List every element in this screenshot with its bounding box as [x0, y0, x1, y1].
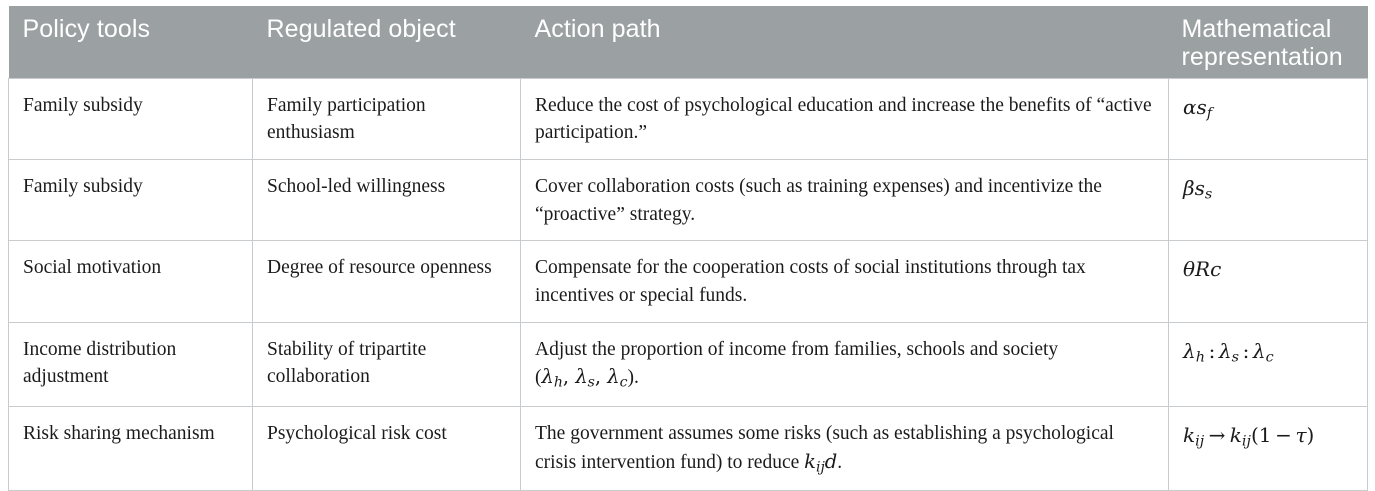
action-path-text-suffix: . — [837, 452, 842, 473]
math-symbol-lambda-s: λ — [1219, 339, 1232, 363]
inline-math-lambda-list: λh, λs, λc — [542, 365, 628, 388]
action-path-text-suffix: ). — [628, 367, 639, 388]
math-subscript-s: s — [1232, 349, 1239, 365]
math-subscript-s: s — [588, 375, 595, 391]
math-subscript-h: h — [1196, 349, 1205, 365]
math-symbol: αs — [1183, 95, 1207, 119]
table-row: Family subsidy Family participation enth… — [9, 78, 1368, 159]
cell-policy-tools: Social motivation — [9, 241, 253, 322]
cell-action-path: The government assumes some risks (such … — [521, 406, 1169, 490]
cell-policy-tools: Income distribution adjustment — [9, 322, 253, 406]
cell-policy-tools: Risk sharing mechanism — [9, 406, 253, 490]
math-symbol-tau: τ — [1295, 423, 1306, 447]
cell-regulated-object: Degree of resource openness — [253, 241, 521, 322]
math-expression-alpha-s-f: αsf — [1183, 95, 1212, 119]
math-symbol-k-right: k — [1230, 423, 1242, 447]
math-colon-2: : — [1239, 339, 1253, 363]
math-symbol-k-left: k — [1183, 423, 1195, 447]
math-comma-2: , — [595, 365, 601, 388]
cell-action-path: Reduce the cost of psychological educati… — [521, 78, 1169, 159]
math-minus: − — [1272, 423, 1296, 447]
math-expression-theta-r-c: θRc — [1183, 257, 1221, 281]
math-symbol: θRc — [1183, 257, 1221, 281]
math-paren-close: ) — [1307, 423, 1315, 447]
cell-regulated-object: Family participation enthusiasm — [253, 78, 521, 159]
math-subscript: s — [1205, 187, 1212, 203]
inline-math-k-ij-d: kijd — [804, 450, 837, 473]
cell-math-representation: λh:λs:λc — [1169, 322, 1368, 406]
math-symbol-k: k — [804, 450, 816, 473]
cell-regulated-object: Stability of tripartite collaboration — [253, 322, 521, 406]
cell-math-representation: θRc — [1169, 241, 1368, 322]
math-symbol-lambda-s: λ — [575, 365, 587, 388]
math-symbol: βs — [1183, 176, 1205, 200]
math-subscript-ij: ij — [816, 459, 825, 475]
cell-math-representation: kij→kij(1−τ) — [1169, 406, 1368, 490]
table-body: Family subsidy Family participation enth… — [9, 78, 1368, 491]
math-symbol-d: d — [825, 450, 837, 473]
math-expression-beta-s-s: βss — [1183, 176, 1212, 200]
cell-policy-tools: Family subsidy — [9, 159, 253, 240]
table-row: Income distribution adjustment Stability… — [9, 322, 1368, 406]
math-subscript-h: h — [554, 375, 563, 391]
math-arrow-right: → — [1204, 423, 1230, 447]
cell-action-path: Cover collaboration costs (such as train… — [521, 159, 1169, 240]
column-header-mathematical-representation: Mathematical representation — [1169, 6, 1368, 78]
policy-tools-table: Policy tools Regulated object Action pat… — [8, 6, 1368, 491]
policy-table-container: Policy tools Regulated object Action pat… — [0, 0, 1375, 419]
column-header-action-path: Action path — [521, 6, 1169, 78]
cell-action-path: Compensate for the cooperation costs of … — [521, 241, 1169, 322]
table-row: Family subsidy School-led willingness Co… — [9, 159, 1368, 240]
column-header-regulated-object: Regulated object — [253, 6, 521, 78]
math-subscript-ij-left: ij — [1195, 434, 1204, 450]
table-header: Policy tools Regulated object Action pat… — [9, 6, 1368, 78]
cell-regulated-object: Psychological risk cost — [253, 406, 521, 490]
math-colon-1: : — [1205, 339, 1219, 363]
math-subscript: f — [1207, 105, 1212, 121]
math-subscript-ij-right: ij — [1242, 434, 1251, 450]
column-header-policy-tools: Policy tools — [9, 6, 253, 78]
math-expression-k-ij-tau: kij→kij(1−τ) — [1183, 423, 1314, 447]
math-comma-1: , — [563, 365, 569, 388]
header-row: Policy tools Regulated object Action pat… — [9, 6, 1368, 78]
cell-math-representation: βss — [1169, 159, 1368, 240]
table-row: Risk sharing mechanism Psychological ris… — [9, 406, 1368, 490]
math-symbol-lambda-c: λ — [607, 365, 619, 388]
cell-math-representation: αsf — [1169, 78, 1368, 159]
cell-action-path: Adjust the proportion of income from fam… — [521, 322, 1169, 406]
math-symbol-lambda-h: λ — [542, 365, 554, 388]
math-subscript-c: c — [620, 375, 628, 391]
math-symbol-lambda-h: λ — [1183, 339, 1196, 363]
cell-regulated-object: School-led willingness — [253, 159, 521, 240]
math-expression-lambda-ratio: λh:λs:λc — [1183, 339, 1274, 363]
table-row: Social motivation Degree of resource ope… — [9, 241, 1368, 322]
math-symbol-lambda-c: λ — [1253, 339, 1266, 363]
cell-policy-tools: Family subsidy — [9, 78, 253, 159]
math-number-one: 1 — [1259, 423, 1272, 447]
math-subscript-c: c — [1266, 349, 1274, 365]
math-paren-open: ( — [1251, 423, 1259, 447]
